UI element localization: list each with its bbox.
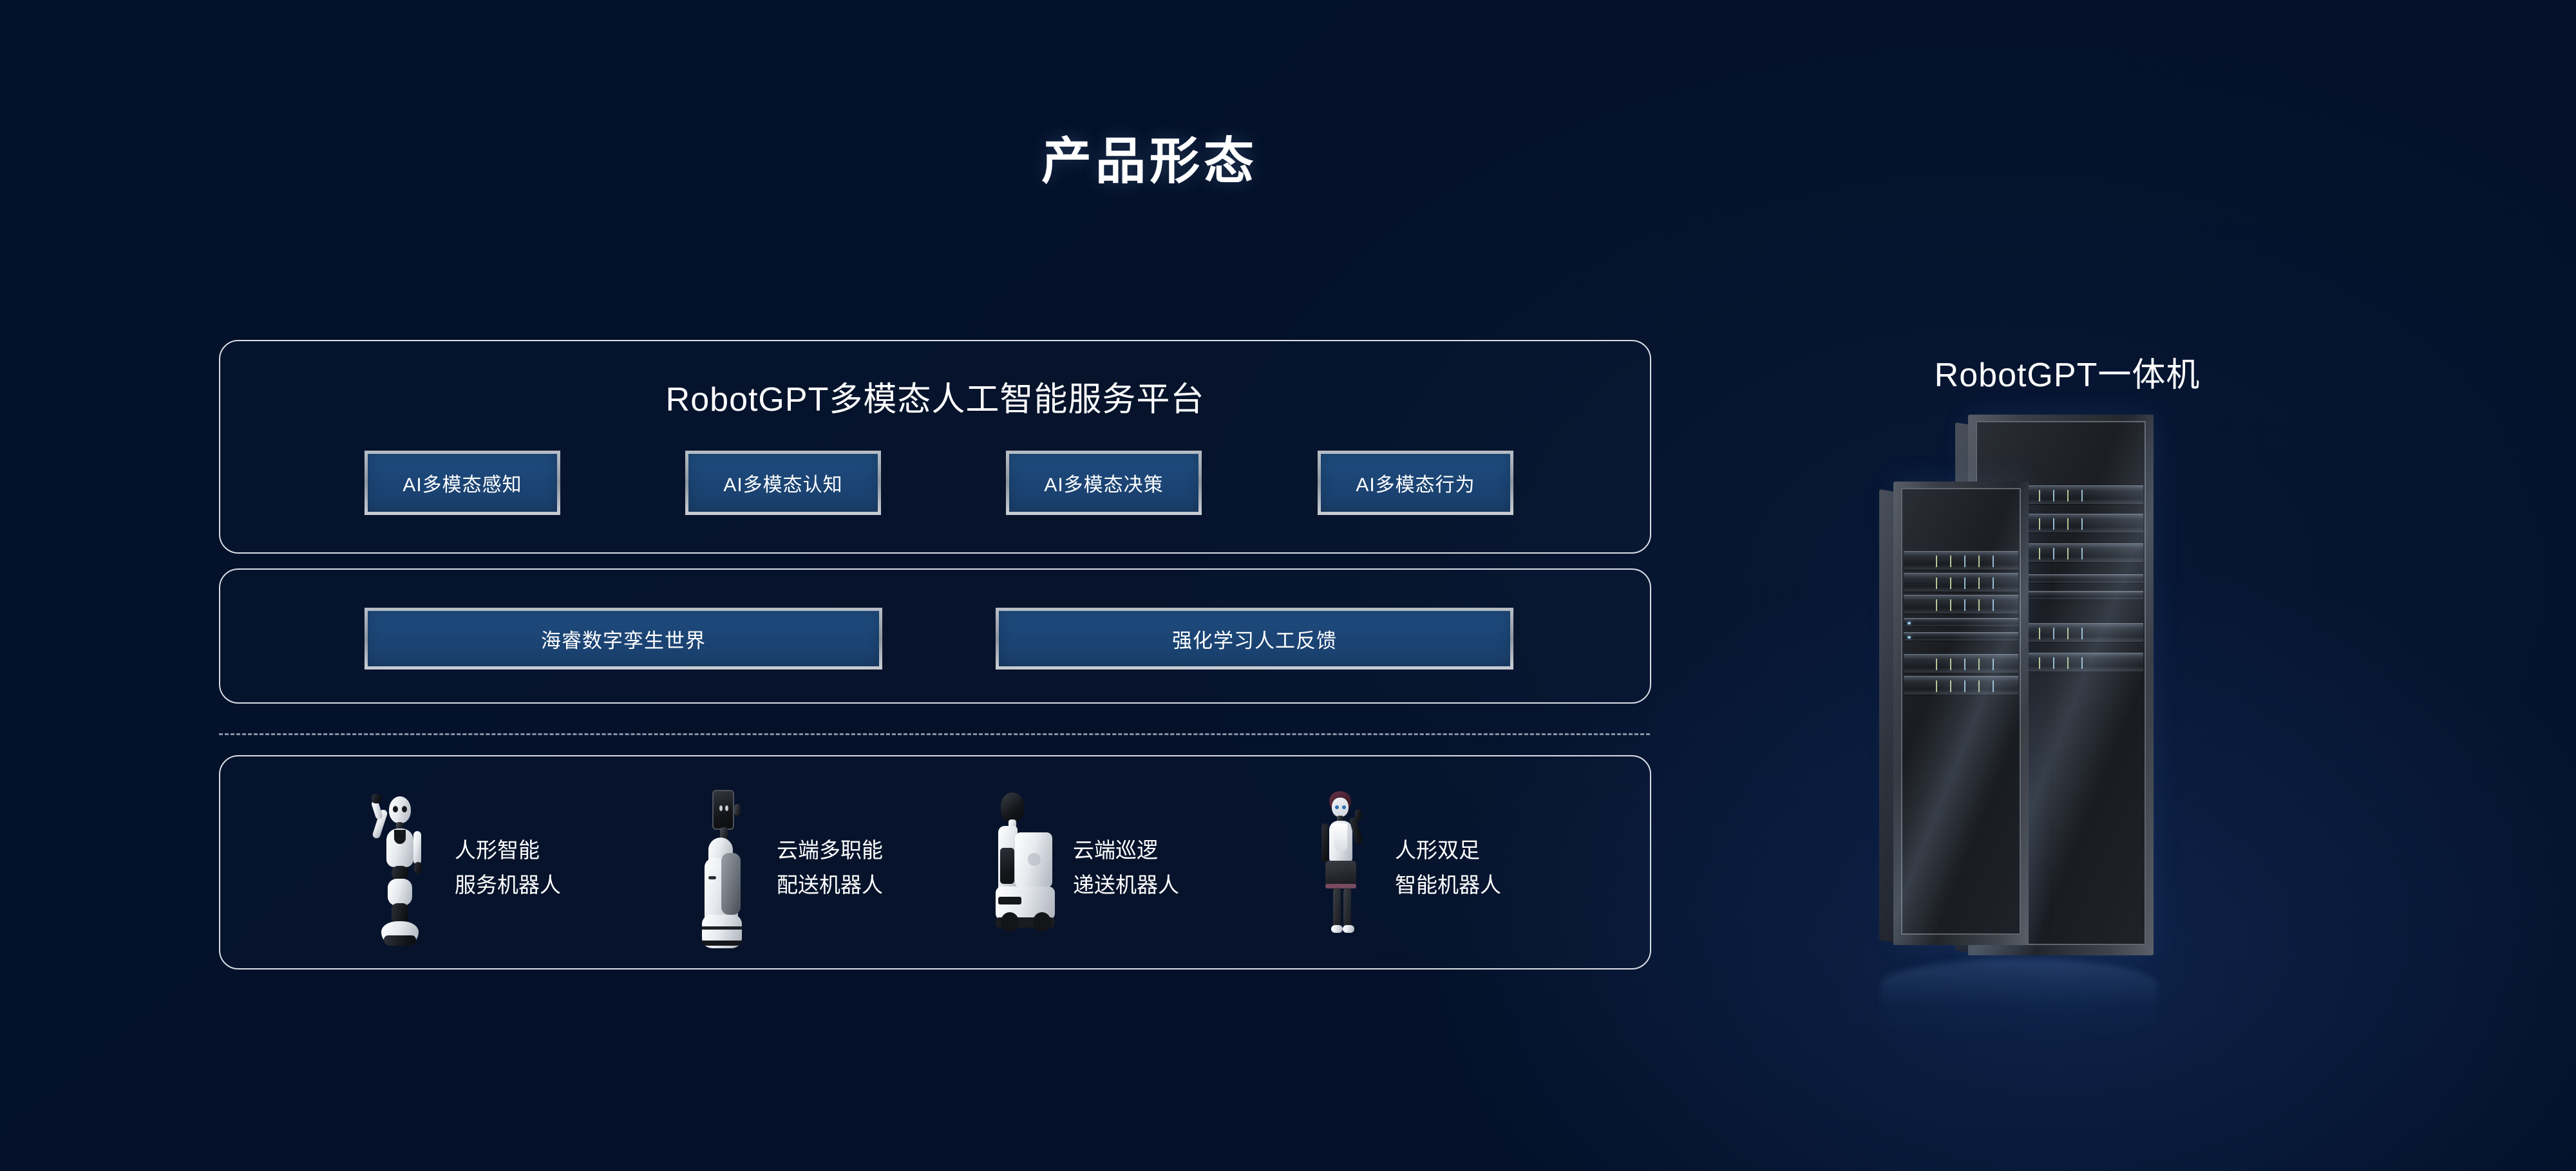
platform-card-title: RobotGPT多模态人工智能服务平台 [219, 372, 1651, 420]
appliance-title: RobotGPT一体机 [1777, 348, 2357, 396]
robot-label-line1: 人形智能 [455, 833, 561, 868]
engine-chip-rlhf[interactable]: 强化学习人工反馈 [996, 608, 1513, 670]
engine-chip-label: 强化学习人工反馈 [1172, 624, 1337, 653]
rack-reflection [1880, 959, 2157, 1043]
page-title: 产品形态 [0, 121, 2576, 193]
robot-label: 人形智能 服务机器人 [455, 833, 561, 903]
robot-label: 云端多职能 配送机器人 [777, 833, 883, 903]
robot-label-line1: 云端巡逻 [1073, 833, 1179, 868]
engine-chip-label: 海睿数字孪生世界 [541, 624, 706, 653]
robot-item-bipedal-humanoid[interactable]: 人形双足 智能机器人 [1301, 781, 1578, 955]
section-divider [219, 733, 1650, 735]
slide-canvas: 产品形态 RobotGPT多模态人工智能服务平台 AI多模态感知 AI多模态认知… [0, 0, 2576, 1171]
robot-item-cloud-delivery[interactable]: 云端多职能 配送机器人 [683, 781, 960, 955]
page-title-text: 产品形态 [1041, 121, 1258, 193]
bipedal-humanoid-robot-icon [1301, 786, 1378, 950]
cloud-patrol-robot-icon [979, 786, 1056, 950]
capability-chip-decision[interactable]: AI多模态决策 [1006, 451, 1202, 515]
robot-label-line2: 递送机器人 [1073, 868, 1179, 903]
robot-label-line1: 人形双足 [1395, 833, 1501, 868]
robot-item-humanoid-service[interactable]: 人形智能 服务机器人 [361, 781, 638, 955]
robot-item-cloud-patrol[interactable]: 云端巡逻 递送机器人 [979, 781, 1269, 955]
capability-chip-label: AI多模态行为 [1356, 469, 1475, 497]
robot-label: 人形双足 智能机器人 [1395, 833, 1501, 903]
capability-chip-label: AI多模态决策 [1044, 469, 1163, 497]
engine-chip-digital-twin[interactable]: 海睿数字孪生世界 [365, 608, 882, 670]
capability-chip-behavior[interactable]: AI多模态行为 [1318, 451, 1513, 515]
server-rack-icon [1893, 412, 2254, 1030]
robot-label-line2: 配送机器人 [777, 868, 883, 903]
robot-label-line2: 服务机器人 [455, 868, 561, 903]
robot-label-line1: 云端多职能 [777, 833, 883, 868]
capability-chip-cognition[interactable]: AI多模态认知 [685, 451, 881, 515]
capability-chip-perception[interactable]: AI多模态感知 [365, 451, 560, 515]
rack-bays-front [1901, 488, 2021, 935]
capability-chip-label: AI多模态认知 [723, 469, 842, 497]
robot-label: 云端巡逻 递送机器人 [1073, 833, 1179, 903]
humanoid-service-robot-icon [361, 786, 438, 950]
robot-label-line2: 智能机器人 [1395, 868, 1501, 903]
server-rack-front [1893, 482, 2029, 945]
cloud-delivery-robot-icon [683, 786, 760, 950]
capability-chip-label: AI多模态感知 [402, 469, 522, 497]
